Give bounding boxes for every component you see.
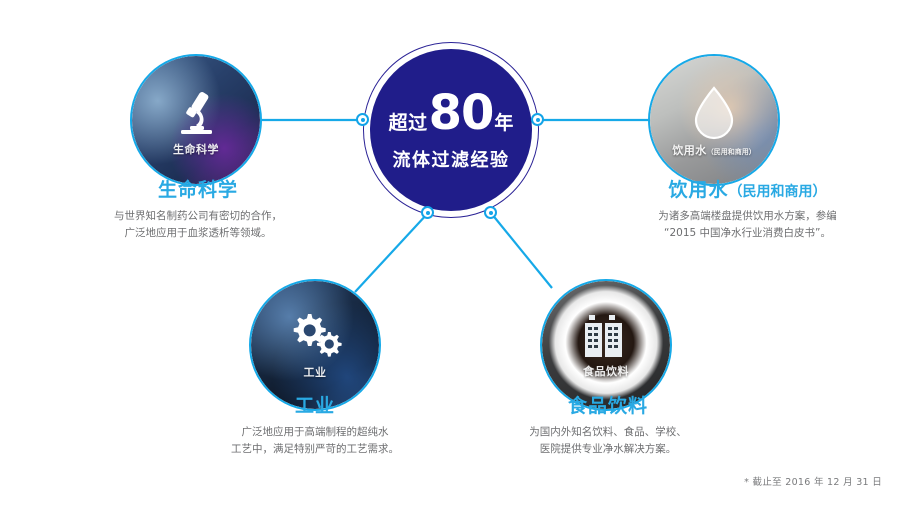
title-industry: 工业 <box>205 396 425 417</box>
gears-icon <box>284 310 346 362</box>
factory-icon <box>579 311 633 361</box>
central-hub: 超过 80 年 流体过滤经验 <box>363 42 539 218</box>
microscope-icon <box>168 83 224 139</box>
hub-core: 超过 80 年 流体过滤经验 <box>370 49 532 211</box>
desc-industry: 广泛地应用于高端制程的超纯水 工艺中，满足特别严苛的工艺需求。 <box>205 424 425 459</box>
spot-food-beverage[interactable]: 食品饮料 <box>540 279 672 411</box>
photo-caption-drinking-water: 饮用水（民用和商用） <box>672 142 756 158</box>
title-life-science: 生命科学 <box>88 180 308 201</box>
text-block-food-beverage: 食品饮料 为国内外知名饮料、食品、学校、 医院提供专业净水解决方案。 <box>498 396 718 459</box>
photo-circle-life-science[interactable]: 生命科学 <box>130 54 262 186</box>
hub-prefix: 超过 <box>389 114 428 133</box>
hub-number: 80 <box>429 89 494 137</box>
spot-life-science[interactable]: 生命科学 <box>130 54 262 186</box>
photo-overlay-food-beverage: 食品饮料 <box>542 281 670 409</box>
hub-node-right <box>531 113 544 126</box>
title-food-beverage: 食品饮料 <box>498 396 718 417</box>
hub-node-bottom-left <box>421 206 434 219</box>
connector-food-beverage <box>491 213 552 288</box>
photo-caption-food-beverage: 食品饮料 <box>583 363 629 379</box>
spot-drinking-water[interactable]: 饮用水（民用和商用） <box>648 54 780 186</box>
desc-life-science: 与世界知名制药公司有密切的合作， 广泛地应用于血浆透析等领域。 <box>88 208 308 243</box>
photo-circle-drinking-water[interactable]: 饮用水（民用和商用） <box>648 54 780 186</box>
photo-overlay-industry: 工业 <box>251 281 379 409</box>
photo-overlay-drinking-water: 饮用水（民用和商用） <box>650 56 778 184</box>
photo-circle-industry[interactable]: 工业 <box>249 279 381 411</box>
hub-headline: 超过 80 年 <box>389 89 514 137</box>
photo-caption-industry: 工业 <box>304 364 327 380</box>
footnote: * 截止至 2016 年 12 月 31 日 <box>744 474 882 488</box>
text-block-drinking-water: 饮用水（民用和商用） 为诸多高端楼盘提供饮用水方案，参编 “2015 中国净水行… <box>600 180 895 243</box>
hub-unit: 年 <box>494 114 513 133</box>
infographic-stage: 超过 80 年 流体过滤经验 <box>0 0 900 510</box>
hub-node-left <box>356 113 369 126</box>
water-drop-icon <box>687 82 741 140</box>
photo-circle-food-beverage[interactable]: 食品饮料 <box>540 279 672 411</box>
photo-caption-life-science: 生命科学 <box>173 141 219 157</box>
text-block-life-science: 生命科学 与世界知名制药公司有密切的合作， 广泛地应用于血浆透析等领域。 <box>88 180 308 243</box>
hub-node-bottom-right <box>484 206 497 219</box>
text-block-industry: 工业 广泛地应用于高端制程的超纯水 工艺中，满足特别严苛的工艺需求。 <box>205 396 425 459</box>
hub-subtitle: 流体过滤经验 <box>393 146 510 172</box>
desc-food-beverage: 为国内外知名饮料、食品、学校、 医院提供专业净水解决方案。 <box>498 424 718 459</box>
spot-industry[interactable]: 工业 <box>249 279 381 411</box>
desc-drinking-water: 为诸多高端楼盘提供饮用水方案，参编 “2015 中国净水行业消费白皮书”。 <box>600 208 895 243</box>
photo-overlay-life-science: 生命科学 <box>132 56 260 184</box>
title-drinking-water: 饮用水（民用和商用） <box>600 180 895 201</box>
